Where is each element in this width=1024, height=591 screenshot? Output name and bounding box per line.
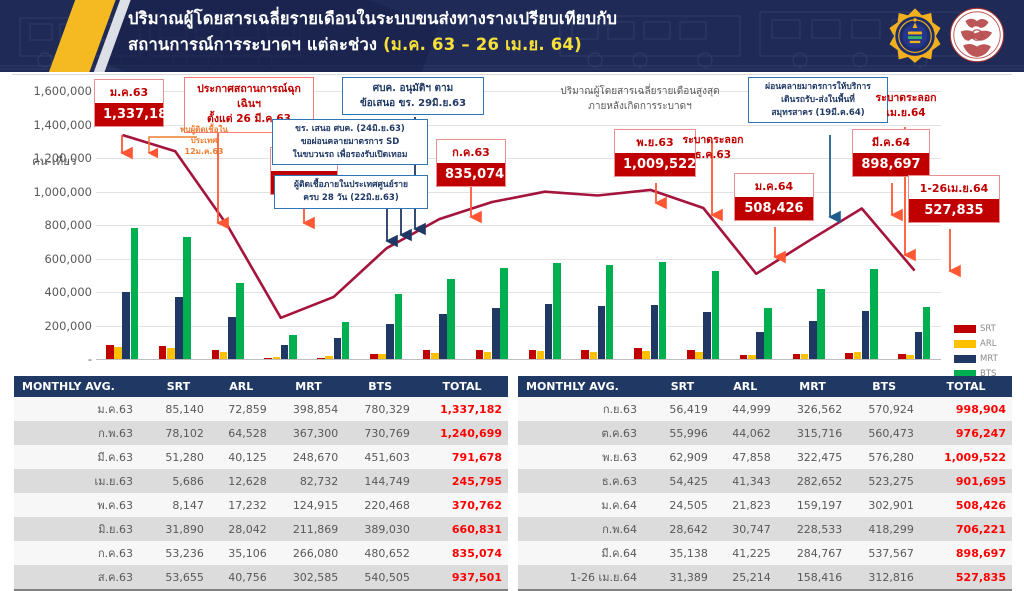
cell-srt: 55,996 [651, 421, 714, 445]
table-left-header: MONTHLY AVG.SRTARLMRTBTSTOTAL [14, 376, 508, 397]
table-row: พ.ค.638,14717,232124,915220,468370,762 [14, 493, 508, 517]
cell-total: 508,426 [920, 493, 1012, 517]
cell-srt: 31,890 [147, 517, 210, 541]
cell-mrt: 326,562 [777, 397, 849, 421]
cell-bts: 389,030 [344, 517, 416, 541]
cell-bts: 220,468 [344, 493, 416, 517]
cell-mrt: 315,716 [777, 421, 849, 445]
cell-monthlyavg: ม.ค.64 [518, 493, 651, 517]
cell-arl: 21,823 [714, 493, 777, 517]
cell-mrt: 211,869 [273, 517, 345, 541]
cell-monthlyavg: พ.ค.63 [14, 493, 147, 517]
note-wave-apr64: ระบาดระลอก เม.ย.64 [860, 91, 952, 120]
table-row: 1-26 เม.ย.6431,38925,214158,416312,81652… [518, 565, 1012, 590]
cell-arl: 25,214 [714, 565, 777, 590]
title-date-range: (ม.ค. 63 – 26 เม.ย. 64) [383, 35, 582, 54]
monthly-average-table-left: MONTHLY AVG.SRTARLMRTBTSTOTAL ม.ค.6385,1… [14, 376, 508, 591]
callout-jan63-value: 1,337,182 [95, 103, 163, 126]
cell-arl: 44,999 [714, 397, 777, 421]
col-header-monthlyavg: MONTHLY AVG. [518, 376, 651, 397]
cell-srt: 31,389 [651, 565, 714, 590]
chart-panel: คน-เที่ยว 1,600,0001,400,0001,200,0001,0… [12, 74, 1012, 368]
cell-bts: 523,275 [848, 469, 920, 493]
callout-jul63-label: ก.ค.63 [437, 140, 505, 163]
callout-mar64-value: 898,697 [853, 153, 929, 176]
table-left-header-row: MONTHLY AVG.SRTARLMRTBTSTOTAL [14, 376, 508, 397]
cell-bts: 480,652 [344, 541, 416, 565]
note-sbk-approval: ศบค. อนุมัติฯ ตาม ข้อเสนอ ขร. 29มิ.ย.63 [342, 77, 484, 115]
cell-arl: 12,628 [210, 469, 273, 493]
department-seal-icon [948, 6, 1006, 64]
cell-mrt: 322,475 [777, 445, 849, 469]
cell-total: 245,795 [416, 469, 508, 493]
col-header-mrt: MRT [273, 376, 345, 397]
callout-apr64: 1-26เม.ย.64 527,835 [908, 175, 1000, 223]
cell-total: 527,835 [920, 565, 1012, 590]
table-row: ก.ค.6353,23635,106266,080480,652835,074 [14, 541, 508, 565]
note-zero-local-case: ผู้ติดเชื้อภายในประเทศศูนย์ราย ครบ 28 วั… [274, 175, 428, 209]
cell-bts: 560,473 [848, 421, 920, 445]
monthly-average-table-right: MONTHLY AVG.SRTARLMRTBTSTOTAL ก.ย.6356,4… [518, 376, 1012, 591]
cell-srt: 8,147 [147, 493, 210, 517]
cell-total: 1,240,699 [416, 421, 508, 445]
cell-total: 660,831 [416, 517, 508, 541]
cell-monthlyavg: ส.ค.63 [14, 565, 147, 590]
callout-apr64-value: 527,835 [909, 199, 999, 222]
cell-bts: 302,901 [848, 493, 920, 517]
table-row: ธ.ค.6354,42541,343282,652523,275901,695 [518, 469, 1012, 493]
note-first-domestic-case: พบผู้ติดเชื้อใน ประเทศ 12ม.ค.63 [164, 125, 244, 157]
cell-arl: 41,225 [714, 541, 777, 565]
cell-arl: 40,756 [210, 565, 273, 590]
table-right-header: MONTHLY AVG.SRTARLMRTBTSTOTAL [518, 376, 1012, 397]
cell-arl: 64,528 [210, 421, 273, 445]
cell-srt: 28,642 [651, 517, 714, 541]
cell-mrt: 158,416 [777, 565, 849, 590]
cell-arl: 41,343 [714, 469, 777, 493]
cell-arl: 28,042 [210, 517, 273, 541]
title-line-2-prefix: สถานการณ์การระบาดฯ แต่ละช่วง [128, 35, 383, 54]
cell-srt: 62,909 [651, 445, 714, 469]
cell-mrt: 82,732 [273, 469, 345, 493]
cell-bts: 537,567 [848, 541, 920, 565]
cell-arl: 40,125 [210, 445, 273, 469]
cell-monthlyavg: พ.ย.63 [518, 445, 651, 469]
cell-arl: 30,747 [714, 517, 777, 541]
col-header-total: TOTAL [920, 376, 1012, 397]
cell-monthlyavg: มิ.ย.63 [14, 517, 147, 541]
table-row: ม.ค.6385,14072,859398,854780,3291,337,18… [14, 397, 508, 421]
cell-monthlyavg: ม.ค.63 [14, 397, 147, 421]
table-row: มิ.ย.6331,89028,042211,869389,030660,831 [14, 517, 508, 541]
table-right-header-row: MONTHLY AVG.SRTARLMRTBTSTOTAL [518, 376, 1012, 397]
cell-monthlyavg: ธ.ค.63 [518, 469, 651, 493]
page-header: ปริมาณผู้โดยสารเฉลี่ยรายเดือนในระบบขนส่ง… [0, 0, 1024, 72]
cell-monthlyavg: มี.ค.63 [14, 445, 147, 469]
cell-srt: 5,686 [147, 469, 210, 493]
cell-mrt: 398,854 [273, 397, 345, 421]
table-row: ก.ย.6356,41944,999326,562570,924998,904 [518, 397, 1012, 421]
cell-total: 898,697 [920, 541, 1012, 565]
callout-jan63-label: ม.ค.63 [95, 80, 163, 103]
cell-monthlyavg: ก.ย.63 [518, 397, 651, 421]
callout-jul63-value: 835,074 [437, 163, 505, 186]
cell-total: 370,762 [416, 493, 508, 517]
cell-srt: 56,419 [651, 397, 714, 421]
cell-arl: 72,859 [210, 397, 273, 421]
cell-monthlyavg: ก.พ.63 [14, 421, 147, 445]
table-row: ม.ค.6424,50521,823159,197302,901508,426 [518, 493, 1012, 517]
cell-arl: 44,062 [714, 421, 777, 445]
table-row: มี.ค.6351,28040,125248,670451,603791,678 [14, 445, 508, 469]
callout-apr64-label: 1-26เม.ย.64 [909, 176, 999, 199]
cell-monthlyavg: ต.ค.63 [518, 421, 651, 445]
cell-arl: 17,232 [210, 493, 273, 517]
cell-mrt: 228,533 [777, 517, 849, 541]
callout-jan64: ม.ค.64 508,426 [734, 173, 814, 221]
callout-mar64: มี.ค.64 898,697 [852, 129, 930, 177]
cell-srt: 35,138 [651, 541, 714, 565]
cell-monthlyavg: ก.พ.64 [518, 517, 651, 541]
cell-total: 998,904 [920, 397, 1012, 421]
note-wave-dec63: ระบาดระลอก ธ.ค.63 [668, 133, 758, 162]
table-row: ก.พ.6428,64230,747228,533418,299706,221 [518, 517, 1012, 541]
col-header-arl: ARL [210, 376, 273, 397]
col-header-arl: ARL [714, 376, 777, 397]
note-sd-relaxation: ขร. เสนอ ศบค. (24มิ.ย.63) ขอผ่อนคลายมาตร… [272, 119, 428, 165]
callout-jul63: ก.ค.63 835,074 [436, 139, 506, 187]
table-row: ต.ค.6355,99644,062315,716560,473976,247 [518, 421, 1012, 445]
cell-mrt: 282,652 [777, 469, 849, 493]
cell-total: 1,009,522 [920, 445, 1012, 469]
cell-mrt: 367,300 [273, 421, 345, 445]
cell-mrt: 124,915 [273, 493, 345, 517]
cell-total: 901,695 [920, 469, 1012, 493]
note-peak-after-outbreak: ปริมาณผู้โดยสารเฉลี่ยรายเดือนสูงสุด ภายห… [520, 85, 760, 114]
cell-total: 791,678 [416, 445, 508, 469]
cell-bts: 144,749 [344, 469, 416, 493]
cell-mrt: 302,585 [273, 565, 345, 590]
table-left-body: ม.ค.6385,14072,859398,854780,3291,337,18… [14, 397, 508, 590]
cell-bts: 451,603 [344, 445, 416, 469]
callout-jan63: ม.ค.63 1,337,182 [94, 79, 164, 127]
table-row: มี.ค.6435,13841,225284,767537,567898,697 [518, 541, 1012, 565]
cell-total: 706,221 [920, 517, 1012, 541]
table-row: ก.พ.6378,10264,528367,300730,7691,240,69… [14, 421, 508, 445]
cell-srt: 53,236 [147, 541, 210, 565]
col-header-srt: SRT [147, 376, 210, 397]
cell-mrt: 284,767 [777, 541, 849, 565]
col-header-bts: BTS [848, 376, 920, 397]
col-header-srt: SRT [651, 376, 714, 397]
cell-srt: 24,505 [651, 493, 714, 517]
cell-bts: 540,505 [344, 565, 416, 590]
col-header-bts: BTS [344, 376, 416, 397]
table-row: ส.ค.6353,65540,756302,585540,505937,501 [14, 565, 508, 590]
cell-srt: 78,102 [147, 421, 210, 445]
cell-srt: 53,655 [147, 565, 210, 590]
cell-bts: 730,769 [344, 421, 416, 445]
cell-bts: 312,816 [848, 565, 920, 590]
cell-mrt: 159,197 [777, 493, 849, 517]
cell-arl: 35,106 [210, 541, 273, 565]
cell-monthlyavg: 1-26 เม.ย.64 [518, 565, 651, 590]
cell-mrt: 248,670 [273, 445, 345, 469]
callout-mar64-label: มี.ค.64 [853, 130, 929, 153]
cell-monthlyavg: เม.ย.63 [14, 469, 147, 493]
cell-srt: 85,140 [147, 397, 210, 421]
page-title: ปริมาณผู้โดยสารเฉลี่ยรายเดือนในระบบขนส่ง… [128, 6, 848, 57]
col-header-total: TOTAL [416, 376, 508, 397]
col-header-monthlyavg: MONTHLY AVG. [14, 376, 147, 397]
callout-jan64-value: 508,426 [735, 197, 813, 220]
cell-srt: 51,280 [147, 445, 210, 469]
title-line-2: สถานการณ์การระบาดฯ แต่ละช่วง (ม.ค. 63 – … [128, 32, 848, 58]
cell-bts: 418,299 [848, 517, 920, 541]
cell-bts: 570,924 [848, 397, 920, 421]
cell-total: 937,501 [416, 565, 508, 590]
cell-total: 835,074 [416, 541, 508, 565]
cell-monthlyavg: มี.ค.64 [518, 541, 651, 565]
cell-srt: 54,425 [651, 469, 714, 493]
title-line-1: ปริมาณผู้โดยสารเฉลี่ยรายเดือนในระบบขนส่ง… [128, 6, 848, 32]
cell-total: 1,337,182 [416, 397, 508, 421]
cell-total: 976,247 [920, 421, 1012, 445]
callout-jan64-label: ม.ค.64 [735, 174, 813, 197]
cell-monthlyavg: ก.ค.63 [14, 541, 147, 565]
cell-bts: 576,280 [848, 445, 920, 469]
cell-bts: 780,329 [344, 397, 416, 421]
cell-arl: 47,858 [714, 445, 777, 469]
table-row: เม.ย.635,68612,62882,732144,749245,795 [14, 469, 508, 493]
cell-mrt: 266,080 [273, 541, 345, 565]
table-row: พ.ย.6362,90947,858322,475576,2801,009,52… [518, 445, 1012, 469]
table-right-body: ก.ย.6356,41944,999326,562570,924998,904ต… [518, 397, 1012, 590]
col-header-mrt: MRT [777, 376, 849, 397]
ministry-emblem-icon [886, 6, 944, 64]
